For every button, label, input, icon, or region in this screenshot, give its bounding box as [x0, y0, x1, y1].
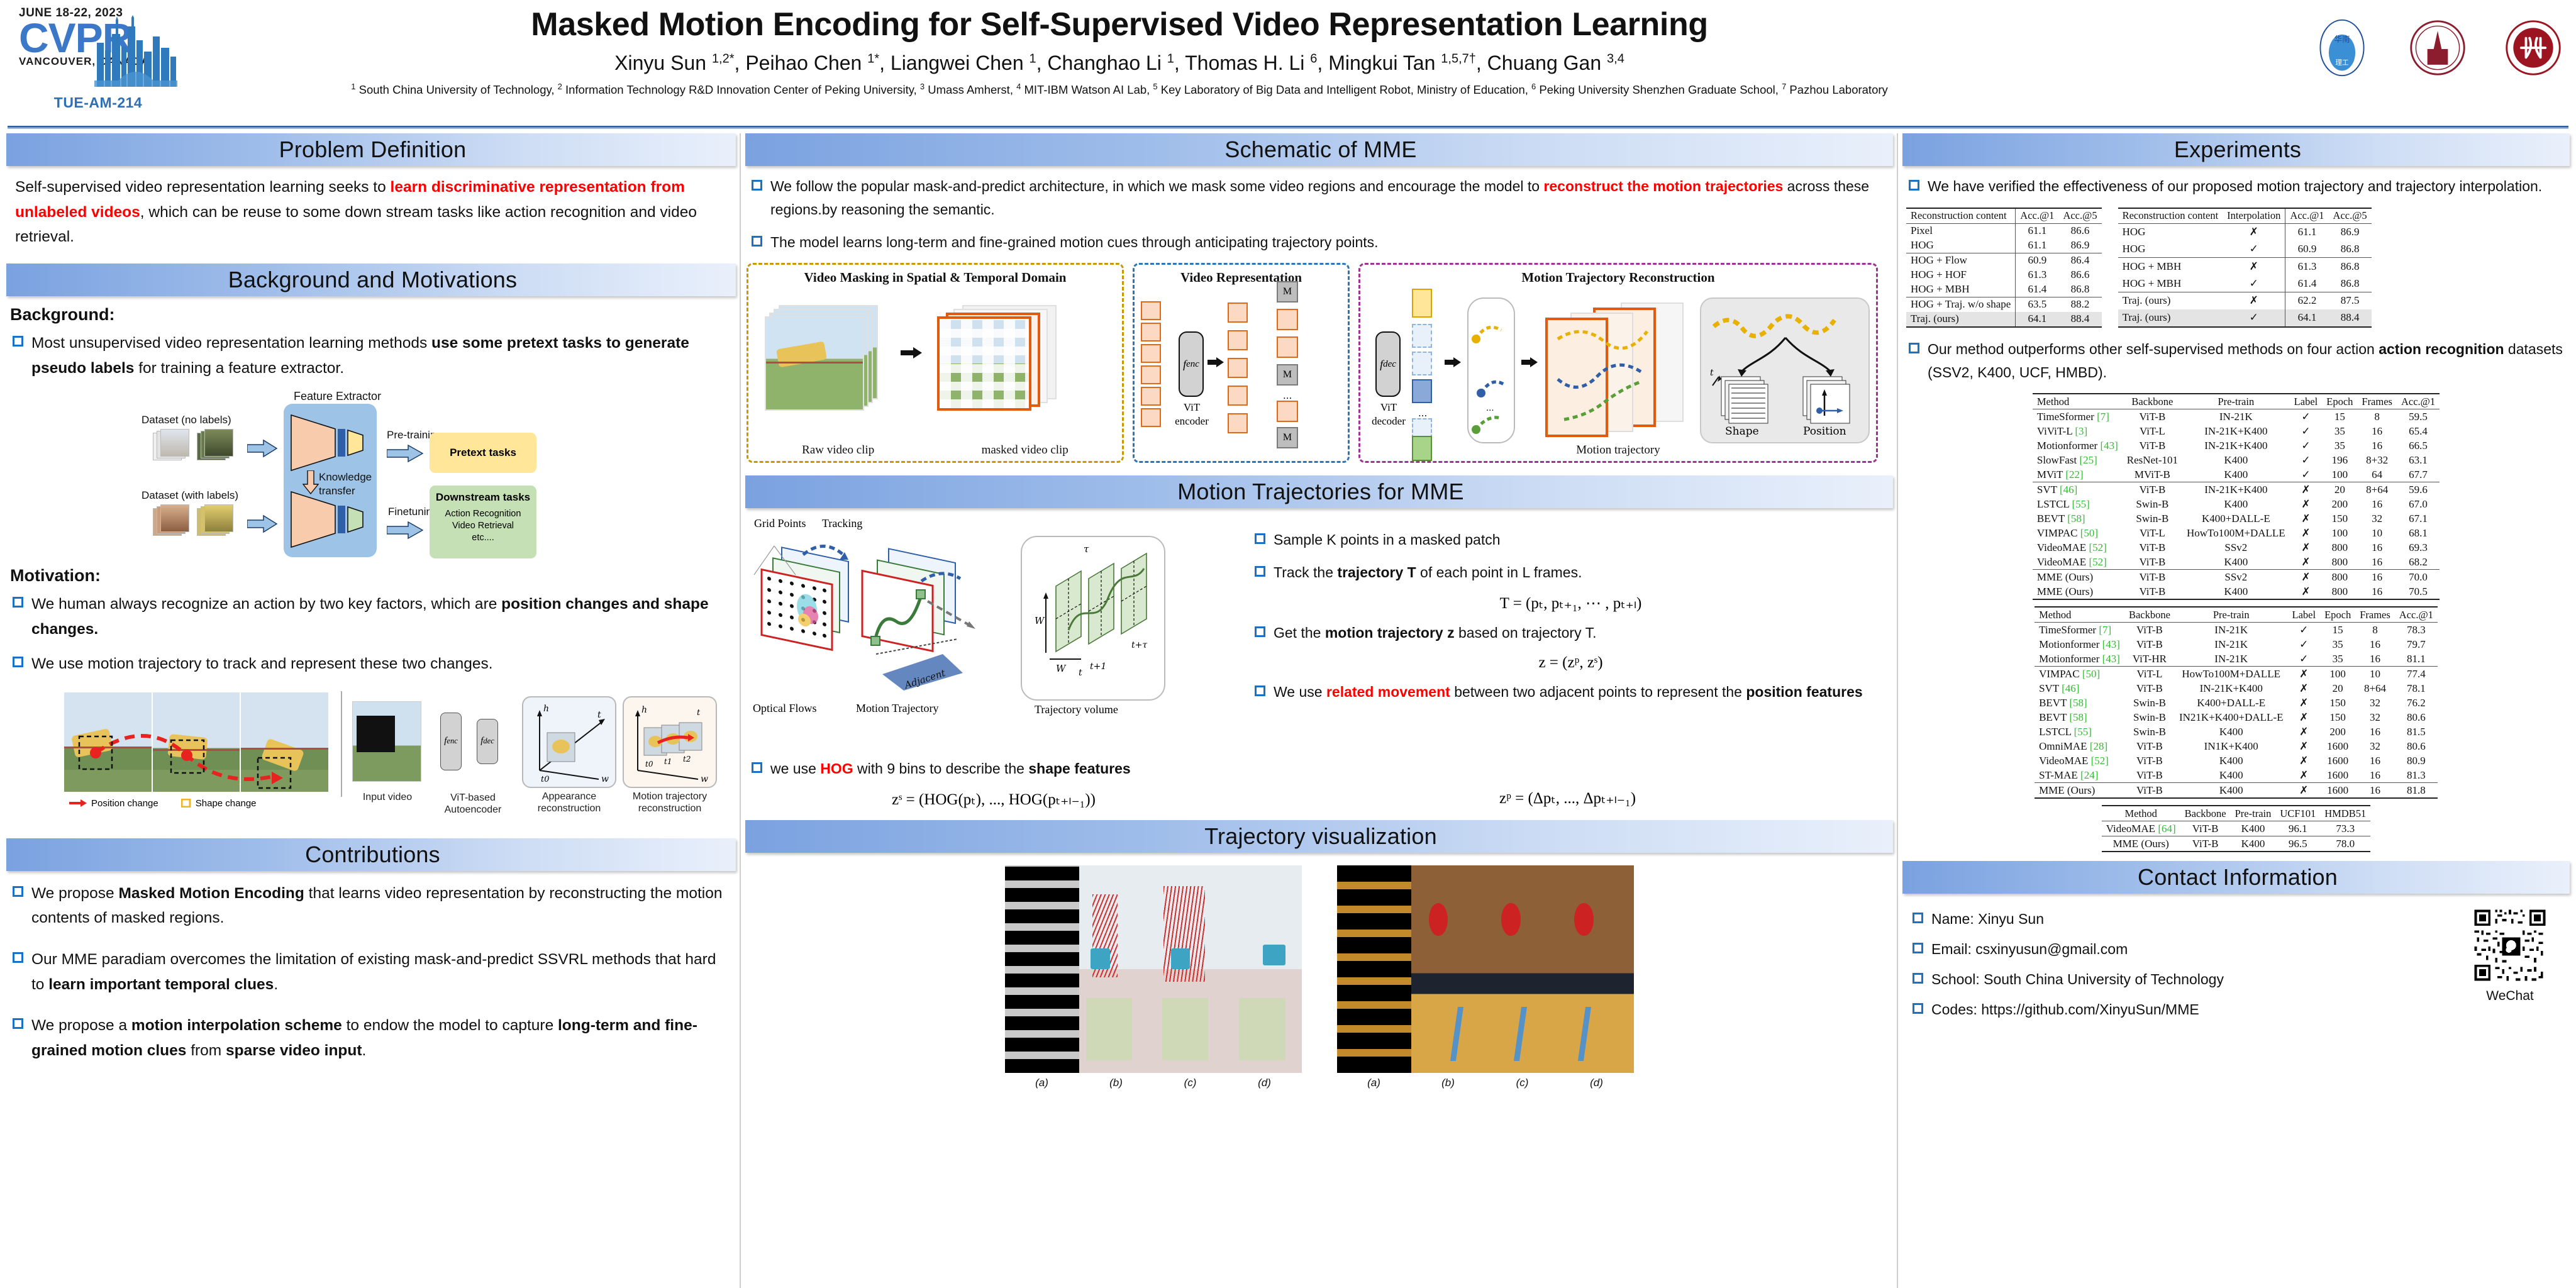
reference-number: [52] — [2089, 541, 2106, 553]
cell-pretrain: K400 — [2175, 724, 2288, 739]
section-experiments: Experiments — [1902, 133, 2570, 166]
cell-epoch: 35 — [2320, 637, 2355, 652]
peking-university-logo-icon — [2503, 18, 2563, 78]
reference-number: [58] — [2069, 711, 2087, 723]
bullet-square-icon — [13, 657, 23, 667]
arrow-icon — [1445, 357, 1461, 371]
cell-acc: 67.7 — [2397, 467, 2440, 482]
legend-shape-change: Shape change — [181, 798, 257, 809]
bullet-square-icon — [752, 762, 762, 773]
cell-backbone: ViT-B — [2124, 637, 2175, 652]
fig-label-motion-trajectory: Motion Trajectory — [856, 702, 939, 715]
schematic-panel-masking: Video Masking in Spatial & Temporal Doma… — [747, 263, 1124, 463]
bullet-square-icon — [13, 1018, 23, 1029]
cell-method: Motionformer [43] — [2035, 637, 2124, 652]
table-row-ours: MME (Ours) ViT-BSSv2✗8001670.0 — [2033, 570, 2440, 585]
cell-frames: 16 — [2357, 570, 2397, 585]
cell-epoch: 1600 — [2320, 783, 2355, 799]
cell-backbone: ViT-L — [2123, 424, 2182, 438]
cell-epoch: 20 — [2320, 681, 2355, 696]
vis-cell-gt — [1228, 865, 1302, 1073]
cell-label: ✗ — [2290, 497, 2323, 511]
cell-acc: 76.2 — [2395, 696, 2438, 710]
cell-method: MViT [22] — [2033, 467, 2123, 482]
cell-epoch: 800 — [2322, 555, 2357, 570]
section-title: Background and Motivations — [228, 267, 517, 293]
th-backbone: Backbone — [2124, 607, 2175, 623]
contribution-item-3: We propose a motion interpolation scheme… — [6, 1013, 736, 1063]
cell-backbone: ViT-B — [2124, 768, 2175, 783]
cell-label: ✗ — [2290, 570, 2323, 585]
bullet-square-icon — [13, 886, 23, 897]
cell-label: ✓ — [2290, 467, 2323, 482]
yellow-square-icon — [181, 799, 191, 808]
reference-number: [7] — [2099, 624, 2111, 636]
cell-label: ✓ — [2290, 438, 2323, 453]
cell-method: Motionformer [43] — [2033, 438, 2123, 453]
mt-bullet-1: Sample K points in a masked patch — [1248, 528, 1893, 552]
table-row: VIMPAC [50]ViT-LHowTo100M+DALLE✗1001068.… — [2033, 526, 2440, 540]
cell-label: ✗ — [2290, 584, 2323, 599]
right-column: Experiments We have verified the effecti… — [1902, 133, 2570, 1028]
cell-label: ✗ — [2288, 681, 2321, 696]
reference-number: [50] — [2080, 527, 2098, 539]
cell-frames: 16 — [2355, 724, 2395, 739]
cell-hmdb: 73.3 — [2320, 821, 2370, 836]
bullet-square-icon — [1255, 686, 1265, 696]
qr-code-icon[interactable] — [2472, 908, 2548, 983]
downstream-item-1: Action Recognition — [445, 508, 521, 520]
cell-pretrain: K400 — [2175, 783, 2288, 799]
table-row: Traj. (ours) ✗ 62.2 87.5 — [2118, 292, 2372, 309]
section-title: Trajectory visualization — [1204, 823, 1437, 850]
vit-decoder-block: fdec — [1375, 331, 1401, 397]
cell-backbone: MViT-B — [2123, 467, 2182, 482]
cell-epoch: 1600 — [2320, 753, 2355, 768]
dataset-thumbnails-labeled — [153, 504, 241, 542]
table-row: VideoMAE [52]ViT-BSSv2✗8001669.3 — [2033, 540, 2440, 555]
table-row-ours: MME (Ours) ViT-BK400✗8001670.5 — [2033, 584, 2440, 599]
cell-pretrain: K400 — [2175, 768, 2288, 783]
visualization-grid — [1337, 865, 1634, 1073]
reconstructed-trajectories-icon — [1545, 303, 1696, 438]
th-frames: Frames — [2355, 607, 2395, 623]
cell-acc: 66.5 — [2397, 438, 2440, 453]
background-bullet: Most unsupervised video representation l… — [6, 331, 736, 380]
svg-text:Shape: Shape — [1725, 425, 1759, 438]
reference-number: [7] — [2097, 411, 2109, 423]
downstream-tasks-tag: Downstream tasks Action Recognition Vide… — [430, 486, 536, 558]
table-row-ours: MME (Ours) ViT-BK400✗16001681.8 — [2035, 783, 2438, 799]
cell-label: ✗ — [2288, 724, 2321, 739]
th-method: Method — [2033, 394, 2123, 409]
svg-text:τ: τ — [1084, 543, 1089, 555]
cell-label: ✓ — [2290, 424, 2323, 438]
poster-header: JUNE 18-22, 2023 CVPR VANCOUVER, CANADA — [0, 0, 2576, 131]
cell-epoch: 15 — [2320, 623, 2355, 638]
table-row: MViT [22]MViT-BK400✓1006467.7 — [2033, 467, 2440, 482]
table-row: BEVT [58]Swin-BK400+DALL-E✗1503276.2 — [2035, 696, 2438, 710]
fig-label-autoencoder: ViT-basedAutoencoder — [423, 792, 523, 816]
section-motion-trajectories: Motion Trajectories for MME — [745, 475, 1893, 508]
table-row: SlowFast [25]ResNet-101K400✓1968+3263.1 — [2033, 453, 2440, 467]
cell-acc: 80.6 — [2395, 710, 2438, 724]
cell-epoch: 200 — [2320, 724, 2355, 739]
cell-backbone: Swin-B — [2124, 710, 2175, 724]
cell-acc: 69.3 — [2397, 540, 2440, 555]
input-video-thumb — [352, 701, 421, 782]
cell-backbone: ViT-B — [2123, 438, 2182, 453]
th-backbone: Backbone — [2123, 394, 2182, 409]
contribution-item-1: We propose Masked Motion Encoding that l… — [6, 881, 736, 931]
cell-label: ✗ — [2290, 482, 2323, 497]
fig-label-trajectory-volume: Trajectory volume — [1035, 703, 1118, 716]
cell-acc: 67.0 — [2397, 497, 2440, 511]
cell-frames: 16 — [2357, 584, 2397, 599]
schematic-panel-reconstruction: Motion Trajectory Reconstruction fdec Vi… — [1358, 263, 1878, 463]
table-row: TimeSformer [7]ViT-BIN-21K✓15859.5 — [2033, 409, 2440, 425]
arrow-icon — [901, 347, 922, 362]
contact-body: Name: Xinyu Sun Email: csxinyusun@gmail.… — [1902, 902, 2570, 1028]
svg-text:W: W — [1056, 663, 1067, 674]
table-row: VideoMAE [52]ViT-BK400✗8001668.2 — [2033, 555, 2440, 570]
cell-frames: 32 — [2355, 739, 2395, 753]
cell-frames: 32 — [2355, 710, 2395, 724]
bullet-square-icon — [13, 336, 23, 347]
cell-acc: 67.1 — [2397, 511, 2440, 526]
vis-cell-flow — [1079, 865, 1153, 1073]
cell-frames: 10 — [2355, 667, 2395, 682]
cell-method: MME (Ours) — [2033, 584, 2123, 599]
bullet-square-icon — [752, 236, 762, 247]
cell-backbone: Swin-B — [2123, 511, 2182, 526]
middle-column: Schematic of MME We follow the popular m… — [745, 133, 1893, 1089]
masked-video-stack — [937, 305, 1063, 413]
background-label: Background: — [6, 305, 736, 325]
motivation-figure: Input video fenc fdec ViT-basedAutoencod… — [25, 686, 717, 823]
table-row: BEVT [58]Swin-BK400+DALL-E✗1503267.1 — [2033, 511, 2440, 526]
table-row: HOG 61.1 86.9 — [1906, 238, 2102, 253]
raw-video-stack — [765, 305, 884, 413]
contact-list: Name: Xinyu Sun Email: csxinyusun@gmail.… — [1906, 908, 2463, 1028]
vis-cell-masked — [1337, 865, 1411, 1073]
table-row: HOG + Flow 60.9 86.4 — [1906, 253, 2102, 268]
patch-token-column — [1141, 301, 1169, 427]
svg-text:t: t — [697, 708, 701, 718]
cell-pretrain: IN-21K — [2182, 409, 2290, 425]
cell-pretrain: IN-21K+K400 — [2182, 482, 2290, 497]
cell-label: ✗ — [2288, 696, 2321, 710]
cell-frames: 32 — [2357, 511, 2397, 526]
th-epoch: Epoch — [2322, 394, 2357, 409]
cell-epoch: 1600 — [2320, 768, 2355, 783]
panel-captions: Raw video clip masked video clip — [748, 443, 1122, 457]
cell-epoch: 35 — [2322, 424, 2357, 438]
table-ssv2-wrap: Method Backbone Pre-train Label Epoch Fr… — [1902, 393, 2570, 600]
qr-caption: WeChat — [2463, 989, 2557, 1004]
cell-frames: 64 — [2357, 467, 2397, 482]
svg-text:t1: t1 — [664, 757, 672, 766]
experiments-bullet-1: We have verified the effectiveness of ou… — [1902, 175, 2570, 198]
vis-cell-recon — [1153, 865, 1228, 1073]
vis-cell-gt — [1560, 865, 1634, 1073]
section-problem-definition: Problem Definition — [6, 133, 736, 166]
cell-ucf: 96.5 — [2275, 836, 2320, 852]
cell-acc: 78.1 — [2395, 681, 2438, 696]
schematic-panel-representation: Video Representation fenc ViTencoder — [1133, 263, 1350, 463]
th-content: Reconstruction content — [1906, 208, 2016, 224]
figure-legend: Position change Shape change — [69, 798, 257, 809]
panel-title: Video Masking in Spatial & Temporal Doma… — [748, 270, 1122, 286]
fig-label-optical-flows: Optical Flows — [753, 702, 817, 715]
cell-backbone: ViT-B — [2124, 623, 2175, 638]
fig-label-input-video: Input video — [343, 792, 431, 803]
cell-pretrain: HowTo100M+DALLE — [2175, 667, 2288, 682]
cell-acc: 81.3 — [2395, 768, 2438, 783]
table-row: BEVT [58]Swin-BIN21K+K400+DALL-E✗1503280… — [2035, 710, 2438, 724]
motion-trajectory-figure: Grid Points Tracking — [745, 517, 1242, 756]
reference-number: [28] — [2090, 740, 2107, 752]
panel-caption-vit-encoder: ViTencoder — [1171, 401, 1213, 428]
cell-pretrain: IN-21K+K400 — [2182, 424, 2290, 438]
svg-text:t: t — [1710, 368, 1714, 378]
shape-feature-block: we use HOG with 9 bins to describe the s… — [745, 757, 1242, 818]
f-dec-block: fdec — [477, 719, 498, 764]
table-row-highlight: Traj. (ours) ✓ 64.1 88.4 — [2118, 309, 2372, 327]
table-ablation-reconstruction: Reconstruction content Acc.@1 Acc.@5 Pix… — [1906, 208, 2102, 328]
cell-epoch: 150 — [2322, 511, 2357, 526]
reference-number: [55] — [2074, 726, 2092, 738]
trajectory-volume-icon: W W t t+1 t+τ τ — [1021, 536, 1165, 701]
vit-encoder-block: fenc — [1179, 331, 1204, 397]
f-enc-block: fenc — [440, 713, 462, 770]
affiliation-list: 1 South China University of Technology, … — [189, 81, 2050, 98]
cell-label: ✗ — [2288, 753, 2321, 768]
cell-method: BEVT [58] — [2035, 696, 2124, 710]
header-divider — [8, 126, 2568, 129]
svg-text:t0: t0 — [645, 760, 653, 769]
contact-item-codes[interactable]: Codes: https://github.com/XinyuSun/MME — [1906, 998, 2463, 1021]
arrow-icon — [247, 439, 277, 458]
reference-number: [43] — [2102, 638, 2120, 650]
cell-epoch: 100 — [2322, 526, 2357, 540]
poster-title: Masked Motion Encoding for Self-Supervis… — [189, 6, 2050, 43]
cell-method: LSTCL [55] — [2033, 497, 2123, 511]
table-row-highlight: Traj. (ours) 64.1 88.4 — [1906, 312, 2102, 327]
cell-acc: 65.4 — [2397, 424, 2440, 438]
cell-backbone: ViT-B — [2180, 836, 2231, 852]
cell-pretrain: HowTo100M+DALLE — [2182, 526, 2290, 540]
th-pretrain: Pre-train — [2182, 394, 2290, 409]
reference-number: [58] — [2067, 513, 2085, 525]
problem-definition-text: Self-supervised video representation lea… — [6, 175, 736, 250]
encoder-trapezoid-top — [289, 413, 374, 473]
th-acc5: Acc.@5 — [2329, 208, 2372, 224]
table-row: ST-MAE [24]ViT-BK400✗16001681.3 — [2035, 768, 2438, 783]
svg-text:t: t — [597, 710, 601, 720]
bullet-square-icon — [13, 952, 23, 963]
fig-label-dataset-no-labels: Dataset (no labels) — [142, 414, 231, 426]
section-title: Contact Information — [2138, 864, 2338, 891]
section-title: Problem Definition — [279, 136, 467, 163]
table-row: HOG ✓ 60.9 86.8 — [2118, 241, 2372, 258]
reference-number: [46] — [2062, 682, 2079, 694]
cell-acc: 59.5 — [2397, 409, 2440, 425]
cell-backbone: ViT-B — [2123, 555, 2182, 570]
cell-pretrain: K400+DALL-E — [2175, 696, 2288, 710]
cell-backbone: ViT-B — [2124, 783, 2175, 799]
cell-method: BEVT [58] — [2035, 710, 2124, 724]
reference-number: [64] — [2158, 823, 2175, 835]
svg-text:t+1: t+1 — [1090, 662, 1106, 672]
visualization-labels-left: (a) (b) (c) (d) — [1005, 1077, 1302, 1089]
cell-frames: 16 — [2357, 497, 2397, 511]
visualization-labels-right: (a) (b) (c) (d) — [1337, 1077, 1634, 1089]
cell-acc: 70.0 — [2397, 570, 2440, 585]
table-row: ViViT-L [3]ViT-LIN-21K+K400✓351665.4 — [2033, 424, 2440, 438]
section-schematic: Schematic of MME — [745, 133, 1893, 166]
cell-method: VideoMAE [52] — [2033, 555, 2123, 570]
contact-item-email[interactable]: Email: csxinyusun@gmail.com — [1906, 938, 2463, 961]
cell-pretrain: IN-21K — [2175, 652, 2288, 667]
table-k400-wrap: Method Backbone Pre-train Label Epoch Fr… — [1902, 606, 2570, 799]
cell-label: ✗ — [2290, 555, 2323, 570]
svg-text:W: W — [1035, 615, 1045, 626]
contact-item-name: Name: Xinyu Sun — [1906, 908, 2463, 931]
mt-bullet-3: Get the motion trajectory z based on tra… — [1248, 621, 1893, 645]
cell-epoch: 800 — [2322, 540, 2357, 555]
cell-acc: 68.1 — [2397, 526, 2440, 540]
cell-frames: 16 — [2357, 540, 2397, 555]
panel-title: Motion Trajectory Reconstruction — [1360, 270, 1876, 286]
wechat-qr-block: WeChat — [2463, 908, 2557, 1004]
cell-epoch: 15 — [2322, 409, 2357, 425]
session-id: TUE-AM-214 — [23, 94, 174, 111]
ablation-tables: Reconstruction content Acc.@1 Acc.@5 Pix… — [1902, 208, 2570, 328]
reference-number: [50] — [2082, 668, 2100, 680]
cell-method: LSTCL [55] — [2035, 724, 2124, 739]
section-title: Motion Trajectories for MME — [1177, 479, 1464, 505]
bullet-square-icon — [1913, 913, 1923, 923]
table-row: HOG + MBH 61.4 86.8 — [1906, 282, 2102, 297]
fig-label-motion: Motion trajectoryreconstruction — [619, 791, 721, 814]
mt-bullet-4: We use related movement between two adja… — [1248, 680, 1893, 704]
cell-pretrain: K400 — [2231, 821, 2276, 836]
cell-epoch: 800 — [2322, 570, 2357, 585]
encoded-token-column — [1228, 303, 1255, 428]
figure-divider — [341, 691, 342, 797]
poster-root: JUNE 18-22, 2023 CVPR VANCOUVER, CANADA — [0, 0, 2576, 1288]
cell-backbone: Swin-B — [2124, 724, 2175, 739]
cell-pretrain: K400 — [2231, 836, 2276, 852]
cell-label: ✗ — [2288, 768, 2321, 783]
table-row: SVT [46]ViT-BIN-21K+K400✗208+6459.6 — [2033, 482, 2440, 497]
cell-frames: 16 — [2355, 783, 2395, 799]
visualization-grid — [1005, 865, 1302, 1073]
cell-pretrain: K400 — [2182, 497, 2290, 511]
bullet-square-icon — [13, 597, 23, 608]
cell-pretrain: IN-21K — [2175, 637, 2288, 652]
cell-backbone: ViT-B — [2180, 821, 2231, 836]
table-row: HOG ✗ 61.1 86.9 — [2118, 223, 2372, 240]
reference-number: [55] — [2072, 498, 2089, 510]
cell-acc: 79.7 — [2395, 637, 2438, 652]
table-row: SVT [46]ViT-BIN-21K+K400✗208+6478.1 — [2035, 681, 2438, 696]
cell-method: VideoMAE [64] — [2102, 821, 2180, 836]
visualization-block-left: (a) (b) (c) (d) — [1005, 865, 1302, 1089]
table-row: HOG + MBH ✓ 61.4 86.8 — [2118, 275, 2372, 292]
cell-pretrain: K400 — [2182, 555, 2290, 570]
cell-frames: 16 — [2357, 555, 2397, 570]
svg-text:理工: 理工 — [2335, 59, 2349, 67]
th-epoch: Epoch — [2320, 607, 2355, 623]
cell-label: ✓ — [2290, 409, 2323, 425]
cell-epoch: 150 — [2320, 696, 2355, 710]
cell-label: ✗ — [2288, 667, 2321, 682]
cell-acc: 81.5 — [2395, 724, 2438, 739]
table-row: VideoMAE [64]ViT-BK40096.173.3 — [2102, 821, 2370, 836]
cell-pretrain: IN-21K+K400 — [2175, 681, 2288, 696]
red-arrow-icon — [69, 799, 87, 808]
umass-logo-icon — [2407, 18, 2468, 78]
formula-motion-trajectory-z: z = (zᵖ, zˢ) — [1248, 654, 1893, 672]
cell-backbone: ViT-B — [2123, 409, 2182, 425]
cell-acc: 80.9 — [2395, 753, 2438, 768]
reference-number: [25] — [2079, 454, 2097, 466]
table-row: HOG + HOF 61.3 86.6 — [1906, 268, 2102, 282]
cell-label: ✗ — [2288, 739, 2321, 753]
svg-text:t0: t0 — [541, 775, 550, 784]
cell-backbone: ViT-HR — [2124, 652, 2175, 667]
bullet-square-icon — [1909, 180, 1919, 191]
th-acc: Acc.@1 — [2395, 607, 2438, 623]
vis-cell-masked — [1005, 865, 1079, 1073]
reference-number: [43] — [2102, 653, 2120, 665]
section-title: Schematic of MME — [1224, 136, 1416, 163]
cell-backbone: ViT-B — [2123, 540, 2182, 555]
th-acc: Acc.@1 — [2397, 394, 2440, 409]
contribution-item-2: Our MME paradiam overcomes the limitatio… — [6, 947, 736, 997]
cell-epoch: 35 — [2320, 652, 2355, 667]
svg-text:t: t — [1079, 668, 1082, 678]
cell-frames: 8+32 — [2357, 453, 2397, 467]
panel-caption-vit-decoder: ViTdecoder — [1368, 401, 1409, 428]
schematic-bullet-1: We follow the popular mask-and-predict a… — [745, 175, 1893, 221]
dataset-thumbnails-unlabeled — [153, 429, 241, 467]
table-ucf-hmdb-wrap: Method Backbone Pre-train UCF101 HMDB51 … — [1902, 805, 2570, 852]
cell-frames: 16 — [2357, 438, 2397, 453]
table-ssv2-results: Method Backbone Pre-train Label Epoch Fr… — [2033, 393, 2440, 600]
mt-bullet-2: Track the trajectory T of each point in … — [1248, 561, 1893, 584]
cell-backbone: Swin-B — [2123, 497, 2182, 511]
cell-acc: 59.6 — [2397, 482, 2440, 497]
table-row: HOG + MBH ✗ 61.3 86.8 — [2118, 258, 2372, 275]
knowledge-transfer-arrow-icon — [303, 470, 319, 494]
cell-method: TimeSformer [7] — [2033, 409, 2123, 425]
section-background-motivations: Background and Motivations — [6, 264, 736, 296]
shape-feature-bullet: we use HOG with 9 bins to describe the s… — [745, 757, 1242, 780]
scut-logo-icon: 华南 理工 — [2312, 18, 2372, 78]
cell-acc: 68.2 — [2397, 555, 2440, 570]
position-change-trajectory-icon — [64, 692, 328, 792]
cell-epoch: 200 — [2322, 497, 2357, 511]
cell-frames: 16 — [2355, 652, 2395, 667]
reference-number: [3] — [2075, 425, 2087, 437]
university-logos: 华南 理工 — [2312, 18, 2563, 78]
cell-acc: 80.6 — [2395, 739, 2438, 753]
pd-text-a: Self-supervised video representation lea… — [15, 179, 391, 196]
cell-method: TimeSformer [7] — [2035, 623, 2124, 638]
